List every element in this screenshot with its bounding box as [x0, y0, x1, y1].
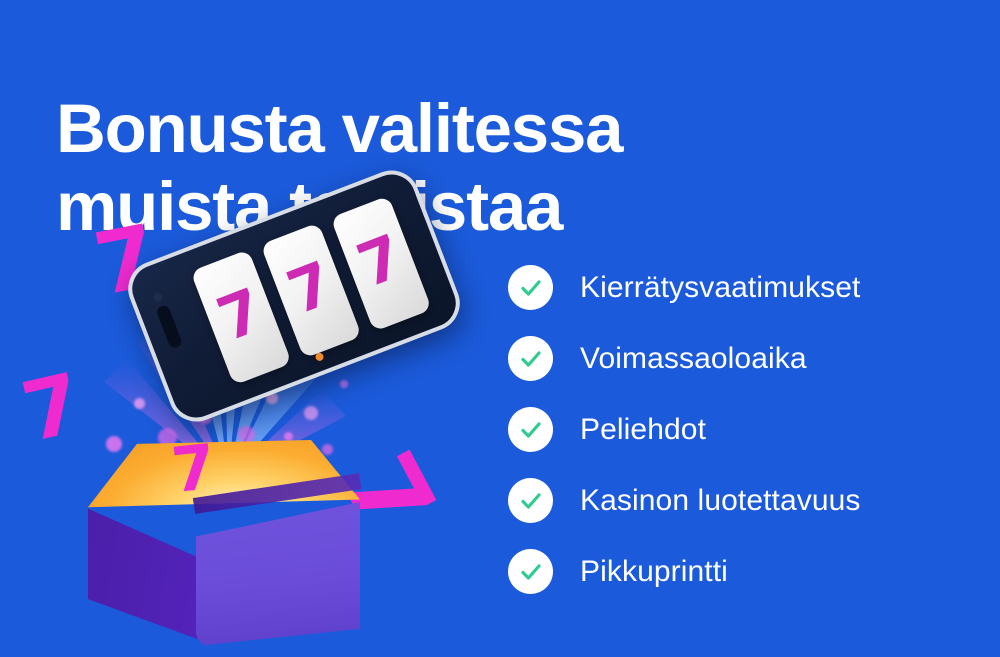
slot-reels: 7 7 7: [190, 196, 432, 386]
check-circle-icon: [508, 265, 553, 310]
checklist-item-kasinon-luotettavuus: Kasinon luotettavuus: [508, 465, 978, 536]
seven-symbol: 7: [169, 436, 218, 502]
checklist-item-peliehdot: Peliehdot: [508, 394, 978, 465]
check-circle-icon: [508, 407, 553, 452]
check-circle-icon: [508, 336, 553, 381]
checklist-item-voimassaoloaika: Voimassaoloaika: [508, 323, 978, 394]
phone-indicator-dot: [314, 352, 324, 362]
check-circle-icon: [508, 478, 553, 523]
infographic-canvas: Bonusta valitessa muista tarkistaa: [0, 0, 1000, 657]
check-circle-icon: [508, 549, 553, 594]
bonus-illustration: 7 7 7 7 7 7 7: [0, 190, 500, 657]
reel-symbol: 7: [280, 253, 340, 324]
phone-notch: [155, 304, 183, 350]
bonus-checklist: Kierrätysvaatimukset Voimassaoloaika Pel…: [508, 252, 978, 607]
checklist-item-label: Kierrätysvaatimukset: [580, 271, 860, 305]
checklist-item-label: Voimassaoloaika: [580, 342, 807, 376]
gift-box-illustration: [88, 440, 360, 640]
reel-symbol: 7: [210, 280, 270, 351]
reel-symbol: 7: [350, 226, 410, 297]
checklist-item-pikkuprintti: Pikkuprintti: [508, 536, 978, 607]
checklist-item-label: Peliehdot: [580, 413, 706, 447]
phone-camera-icon: [152, 292, 164, 304]
checklist-item-kierratysvaatimukset: Kierrätysvaatimukset: [508, 252, 978, 323]
gift-box-front: [196, 502, 360, 646]
checklist-item-label: Kasinon luotettavuus: [580, 484, 861, 518]
gift-box-side: [88, 494, 200, 640]
checklist-item-label: Pikkuprintti: [580, 555, 728, 589]
